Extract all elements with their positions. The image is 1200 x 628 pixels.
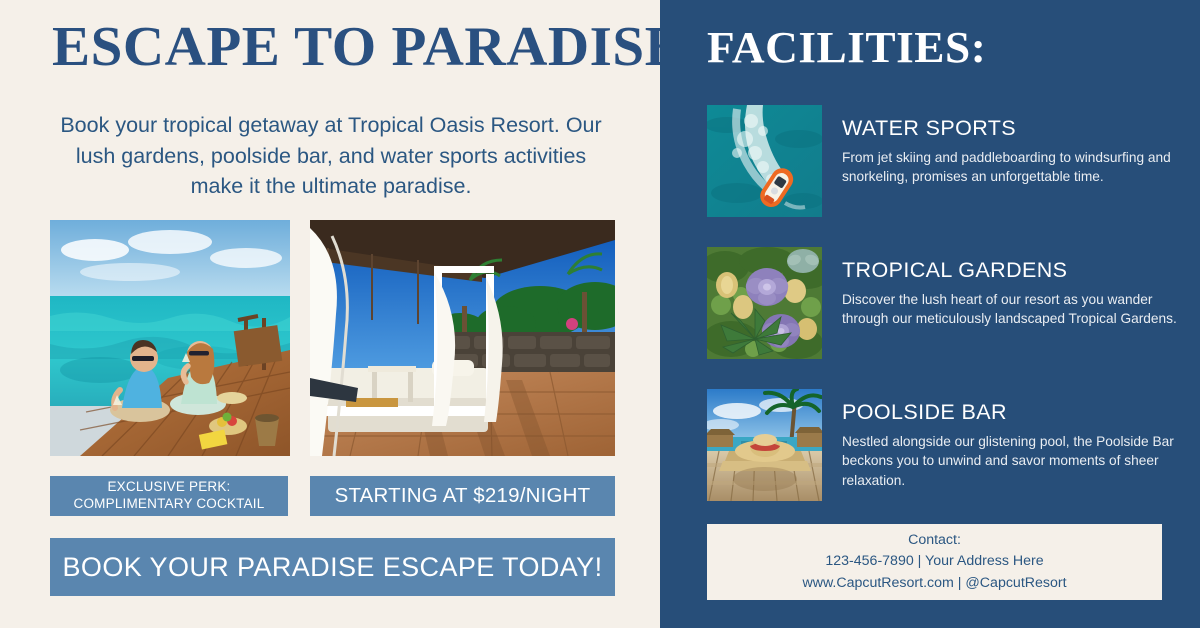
facility-text-poolside-bar: POOLSIDE BAR Nestled alongside our glist… [842,401,1182,490]
contact-web-social[interactable]: www.CapcutResort.com | @CapcutResort [802,573,1066,595]
facility-item-tropical-gardens[interactable]: TROPICAL GARDENS Discover the lush heart… [707,247,1177,362]
facilities-panel: FACILITIES: [660,0,1200,628]
intro-paragraph: Book your tropical getaway at Tropical O… [60,110,602,202]
facility-text-tropical-gardens: TROPICAL GARDENS Discover the lush heart… [842,259,1182,329]
facility-description: Nestled alongside our glistening pool, t… [842,432,1182,490]
couple-on-dock-photo [50,220,290,456]
facility-name: TROPICAL GARDENS [842,259,1182,283]
contact-phone-address: 123-456-7890 | Your Address Here [825,551,1043,573]
starting-price-button[interactable]: STARTING AT $219/NIGHT [310,476,615,516]
book-now-cta-button[interactable]: BOOK YOUR PARADISE ESCAPE TODAY! [50,538,615,596]
exclusive-perk-button[interactable]: EXCLUSIVE PERK: COMPLIMENTARY COCKTAIL [50,476,288,516]
facility-item-poolside-bar[interactable]: POOLSIDE BAR Nestled alongside our glist… [707,389,1177,504]
facility-item-water-sports[interactable]: WATER SPORTS From jet skiing and paddleb… [707,105,1177,220]
cabana-daybed-photo [310,220,615,456]
facility-description: From jet skiing and paddleboarding to wi… [842,148,1182,187]
facilities-title: FACILITIES: [707,22,986,73]
left-panel: ESCAPE TO PARADISE Book your tropical ge… [0,0,660,628]
promotional-poster: ESCAPE TO PARADISE Book your tropical ge… [0,0,1200,628]
straw-hat-dock-thumbnail [707,389,822,501]
contact-box: Contact: 123-456-7890 | Your Address Her… [707,524,1162,600]
speedboat-aerial-thumbnail [707,105,822,217]
facility-text-water-sports: WATER SPORTS From jet skiing and paddleb… [842,117,1182,187]
perk-line-2: COMPLIMENTARY COCKTAIL [74,496,265,513]
book-now-cta-label: BOOK YOUR PARADISE ESCAPE TODAY! [63,552,603,583]
starting-price-label: STARTING AT $219/NIGHT [335,484,591,508]
facility-description: Discover the lush heart of our resort as… [842,290,1182,329]
page-title: ESCAPE TO PARADISE [52,18,644,77]
facility-name: POOLSIDE BAR [842,401,1182,425]
succulent-garden-thumbnail [707,247,822,359]
perk-line-1: EXCLUSIVE PERK: [74,479,265,496]
facility-name: WATER SPORTS [842,117,1182,141]
contact-heading: Contact: [908,530,961,552]
